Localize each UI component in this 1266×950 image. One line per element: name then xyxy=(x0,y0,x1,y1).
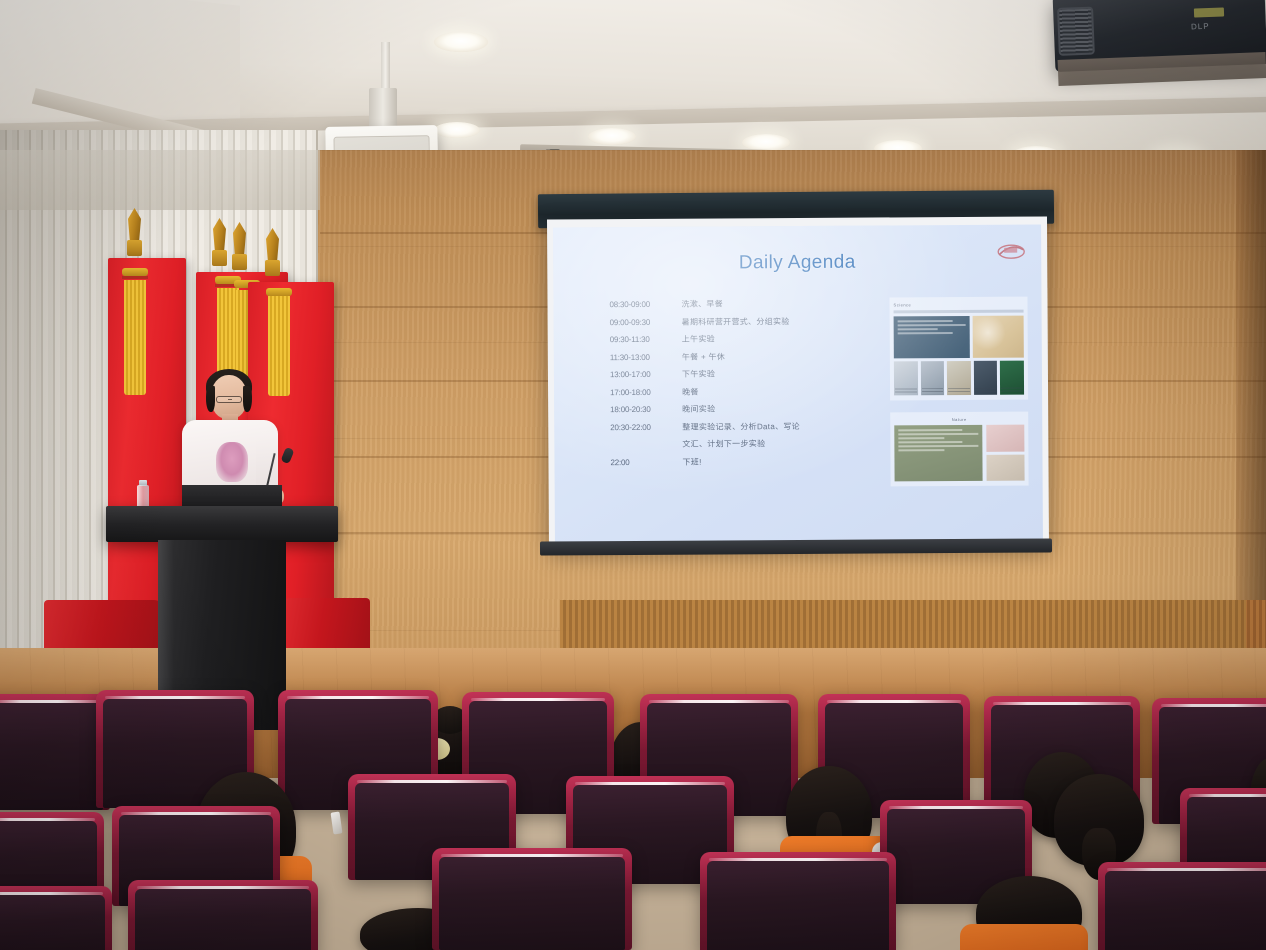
agenda-time: 17:00-18:00 xyxy=(610,388,682,396)
thumbnail-text-line xyxy=(898,437,944,439)
slide-title: Daily Agenda xyxy=(553,251,1041,276)
thumbnail-side-box xyxy=(986,454,1024,481)
agenda-time: 11:30-13:00 xyxy=(610,353,682,361)
agenda-task: 下午实验 xyxy=(682,371,715,379)
thumbnail-caption xyxy=(948,388,970,394)
agenda-time: 09:30-11:30 xyxy=(610,336,682,344)
thumbnail-side-panel xyxy=(986,425,1024,481)
seat xyxy=(0,886,112,950)
thumbnail-caption xyxy=(1001,388,1023,394)
agenda-row: 22:00 下班! xyxy=(610,457,840,466)
presenter-glasses-icon xyxy=(216,396,242,403)
seat xyxy=(1098,862,1266,950)
thumbnail-main-panel xyxy=(894,425,982,482)
tassel-band xyxy=(122,276,148,279)
agenda-task: 晚间实验 xyxy=(682,406,715,414)
journal-screenshot-thumbnail: Nature xyxy=(890,412,1028,487)
agenda-row: 09:00-09:30 暑期科研营开营式、分组实验 xyxy=(610,317,840,326)
institution-logo-icon xyxy=(995,241,1027,263)
agenda-task: 上午实验 xyxy=(682,336,715,344)
thumbnail-hero-text xyxy=(894,316,971,358)
smartphone xyxy=(331,811,343,834)
agenda-row: 17:00-18:00 晚餐 xyxy=(610,387,840,396)
agenda-row: 13:00-17:00 下午实验 xyxy=(610,370,840,379)
presenter-hair-side xyxy=(243,386,252,412)
thumbnail-article-cell xyxy=(974,361,998,395)
agenda-time: 09:00-09:30 xyxy=(610,318,682,326)
tassel-knot xyxy=(266,288,292,296)
flag-tassel xyxy=(268,296,290,396)
agenda-row: 09:30-11:30 上午实验 xyxy=(610,335,840,344)
seat-back-cushion xyxy=(135,889,311,950)
thumbnail-body xyxy=(894,425,1024,482)
thumbnail-side-box xyxy=(986,425,1024,452)
auditorium-photo: DLP Daily Agenda xyxy=(0,0,1266,950)
seat xyxy=(128,880,318,950)
seat-back-cushion xyxy=(1105,871,1266,950)
podium-top xyxy=(106,506,338,542)
thumbnail-text-line xyxy=(898,332,953,334)
agenda-task: 晚餐 xyxy=(682,388,699,396)
thumbnail-text-line xyxy=(898,449,944,451)
shirt-graphic xyxy=(216,442,248,482)
agenda-time: 20:30-22:00 xyxy=(610,423,682,431)
seat-back-cushion xyxy=(0,895,105,950)
flag-collar xyxy=(127,240,142,256)
seat-back-cushion xyxy=(439,857,625,950)
projector-brand-label: DLP xyxy=(1191,22,1210,32)
flag-collar xyxy=(265,260,280,276)
thumbnail-hero-image xyxy=(973,316,1024,358)
agenda-time: 22:00 xyxy=(610,458,682,466)
thumbnail-article-grid xyxy=(894,361,1024,396)
thumbnail-text-line xyxy=(898,324,966,326)
projector-lens-icon xyxy=(1057,7,1095,56)
agenda-time: 08:30-09:00 xyxy=(609,301,681,309)
thumbnail-text-line xyxy=(898,445,978,447)
thumbnail-caption xyxy=(975,388,997,394)
thumbnail-brand-label: Science xyxy=(894,302,1024,308)
thumbnail-text-line xyxy=(898,433,978,435)
seat-back-cushion xyxy=(707,861,889,950)
presentation-slide: Daily Agenda 08:30-09:00 洗漱、早餐 09:00-09:… xyxy=(553,225,1043,544)
audience-shirt xyxy=(960,924,1088,950)
thumbnail-article-cell xyxy=(947,361,971,395)
flag-tassel xyxy=(124,280,146,395)
projector-badge xyxy=(1194,7,1224,17)
thumbnail-article-cell xyxy=(920,361,944,395)
agenda-task: 午餐 + 午休 xyxy=(682,353,725,361)
seat xyxy=(432,848,632,950)
thumbnail-text-line xyxy=(898,320,953,322)
agenda-time: 13:00-17:00 xyxy=(610,371,682,379)
agenda-task: 整理实验记录、分析Data、写论 xyxy=(682,422,800,431)
agenda-row: 20:30-22:00 整理实验记录、分析Data、写论 xyxy=(610,422,840,431)
wall-upper-left xyxy=(0,150,320,210)
downlight xyxy=(434,32,488,52)
agenda-task: 洗漱、早餐 xyxy=(681,300,723,308)
seat xyxy=(700,852,896,950)
seat xyxy=(0,694,110,810)
journal-screenshot-thumbnail: Science xyxy=(889,297,1028,401)
thumbnail-caption xyxy=(922,388,944,394)
thumbnail-text-line xyxy=(898,429,962,431)
agenda-list: 08:30-09:00 洗漱、早餐 09:00-09:30 暑期科研营开营式、分… xyxy=(609,300,840,476)
thumbnail-brand-label: Nature xyxy=(894,417,1024,423)
thumbnail-caption xyxy=(895,388,917,394)
thumbnail-article-cell xyxy=(894,361,918,395)
agenda-row-continuation: 文汇、计划下一步实验 xyxy=(610,440,840,449)
agenda-row: 18:00-20:30 晚间实验 xyxy=(610,405,840,414)
seat-back-cushion xyxy=(0,703,103,810)
thumbnail-hero xyxy=(894,316,1024,359)
agenda-row: 11:30-13:00 午餐 + 午休 xyxy=(610,352,840,361)
agenda-time: 18:00-20:30 xyxy=(610,406,682,414)
downlight xyxy=(434,122,480,138)
agenda-task: 文汇、计划下一步实验 xyxy=(682,440,765,449)
downlight xyxy=(742,134,790,151)
slide-thumbnails: Science xyxy=(889,297,1028,499)
flag-collar xyxy=(232,254,247,270)
downlight xyxy=(588,128,636,145)
thumbnail-text-line xyxy=(898,328,938,330)
projection-screen: Daily Agenda 08:30-09:00 洗漱、早餐 09:00-09:… xyxy=(547,216,1049,549)
flag-collar xyxy=(212,250,227,266)
tassel-knot xyxy=(122,268,148,276)
agenda-task: 暑期科研营开营式、分组实验 xyxy=(682,318,790,327)
presenter-hair-side xyxy=(206,386,215,412)
thumbnail-text-line xyxy=(898,441,962,443)
agenda-task: 下班! xyxy=(682,458,701,466)
thumbnail-article-cell xyxy=(1000,361,1024,395)
agenda-row: 08:30-09:00 洗漱、早餐 xyxy=(609,300,839,309)
thumbnail-navbar xyxy=(894,310,1024,314)
